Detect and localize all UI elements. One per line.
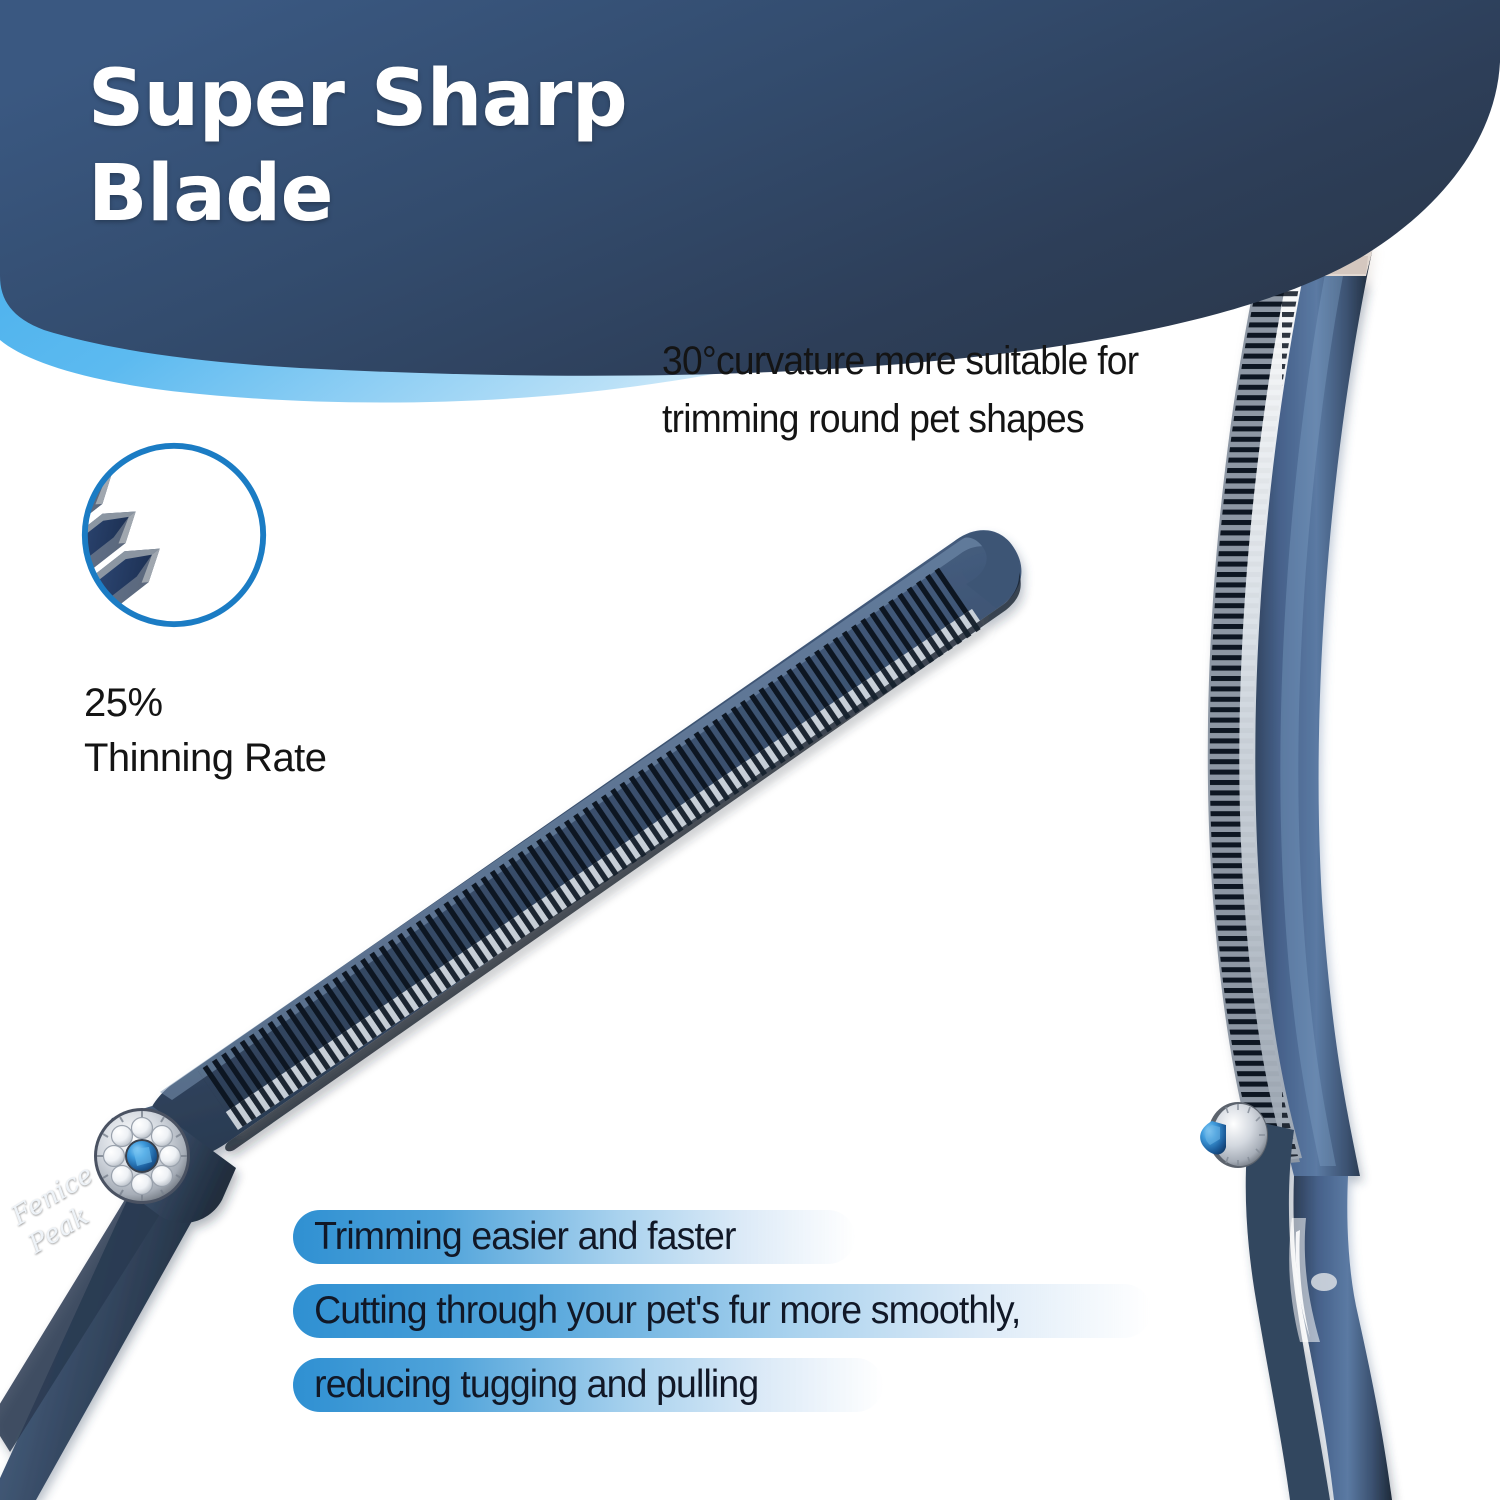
page-title: Super Sharp Blade [88,52,788,242]
pivot-screw-right [1200,1102,1268,1168]
thinning-rate-label: 25% Thinning Rate [84,676,484,786]
curvature-note-text: 30°curvature more suitable for trimming … [662,332,1257,448]
feature-list: Trimming easier and faster Cutting throu… [293,1210,1193,1432]
feature-bar: reducing tugging and pulling [293,1358,1193,1412]
feature-bar-label: reducing tugging and pulling [293,1363,758,1407]
feature-bar-label: Trimming easier and faster [293,1215,736,1259]
feature-bar: Cutting through your pet's fur more smoo… [293,1284,1193,1338]
feature-bar: Trimming easier and faster [293,1210,1193,1264]
pivot-screw-left [94,1108,190,1204]
infographic-canvas: Super Sharp Blade [0,0,1500,1500]
magnified-teeth-callout [76,437,272,633]
feature-bar-label: Cutting through your pet's fur more smoo… [293,1289,1020,1333]
